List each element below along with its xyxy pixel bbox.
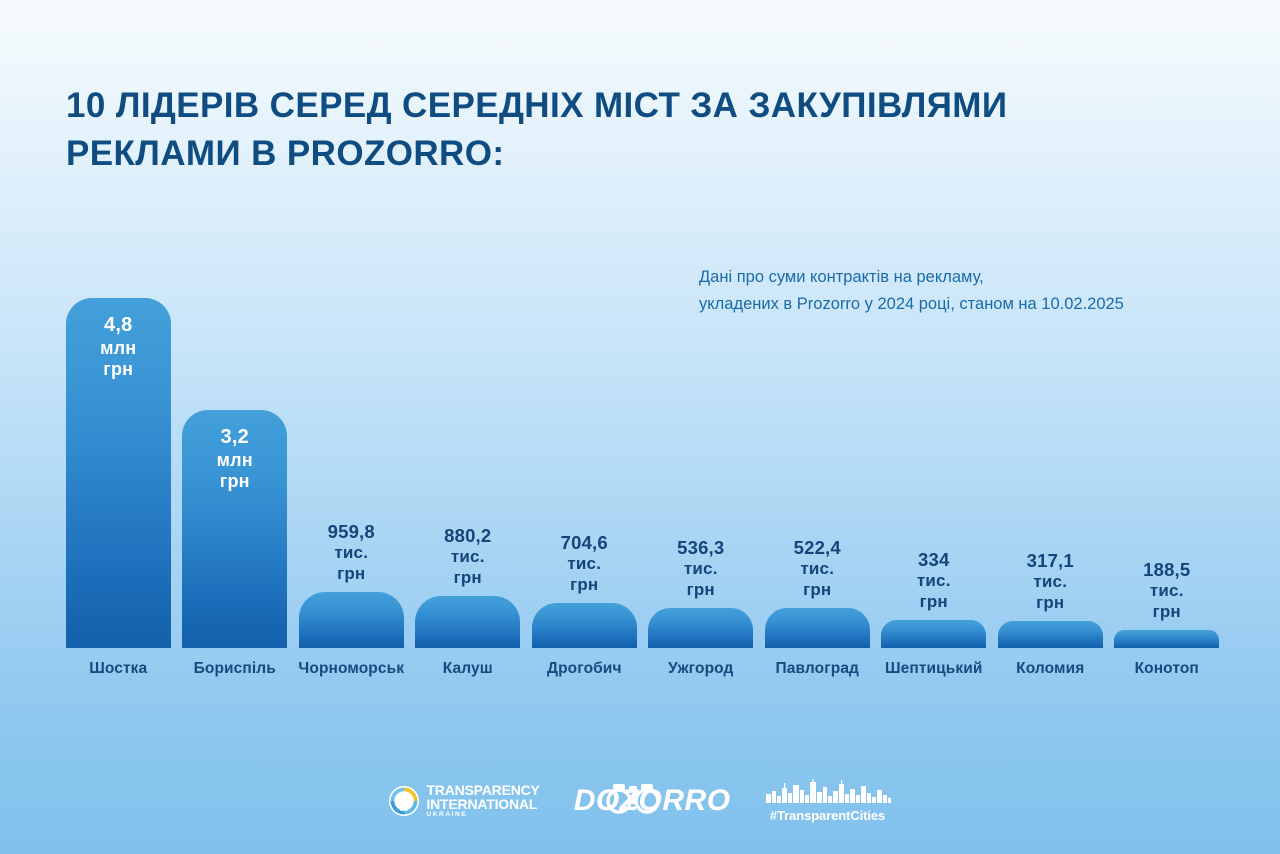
bar-value-unit-1: млн bbox=[182, 450, 287, 471]
bar[interactable] bbox=[299, 592, 404, 648]
bar-value-number: 880,2 bbox=[444, 525, 491, 546]
bar-column: 704,6тис.грн bbox=[526, 240, 643, 648]
category-label-6: Ужгород bbox=[643, 660, 760, 678]
category-label-10: Конотоп bbox=[1109, 660, 1226, 678]
binoculars-icon bbox=[605, 782, 661, 821]
bar[interactable]: 3,2млнгрн bbox=[182, 410, 287, 648]
bar[interactable] bbox=[881, 620, 986, 648]
bar-chart-category-axis: ШосткаБориспільЧорноморськКалушДрогобичУ… bbox=[60, 648, 1225, 690]
bar-value-label: 704,6тис.грн bbox=[561, 532, 608, 595]
category-label-5: Дрогобич bbox=[526, 660, 643, 678]
bar[interactable] bbox=[998, 621, 1103, 648]
bar-chart: 4,8млнгрн3,2млнгрн959,8тис.грн880,2тис.г… bbox=[60, 240, 1225, 690]
bar-column: 880,2тис.грн bbox=[410, 240, 527, 648]
bar-value-unit-1: тис. bbox=[677, 559, 724, 579]
bar-value-unit-2: грн bbox=[677, 580, 724, 600]
bar-value-label: 536,3тис.грн bbox=[677, 537, 724, 600]
bar-value-number: 959,8 bbox=[328, 521, 375, 542]
logo-dozorro: DOZORRO bbox=[574, 784, 731, 818]
bar-value-unit-2: грн bbox=[1143, 602, 1190, 622]
bar[interactable] bbox=[415, 596, 520, 648]
bar-value-number: 522,4 bbox=[794, 537, 841, 558]
bar-value-unit-2: грн bbox=[444, 568, 491, 588]
bar-value-label: 317,1тис.грн bbox=[1027, 550, 1074, 613]
bar-value-label: 188,5тис.грн bbox=[1143, 559, 1190, 622]
category-label-8: Шептицький bbox=[876, 660, 993, 678]
bar-value-unit-2: грн bbox=[794, 580, 841, 600]
page-title-line-1: 10 ЛІДЕРІВ СЕРЕД СЕРЕДНІХ МІСТ ЗА ЗАКУПІ… bbox=[66, 82, 1126, 130]
page-title: 10 ЛІДЕРІВ СЕРЕД СЕРЕДНІХ МІСТ ЗА ЗАКУПІ… bbox=[66, 82, 1126, 179]
category-label-4: Калуш bbox=[410, 660, 527, 678]
bar[interactable] bbox=[648, 608, 753, 648]
bar-value-number: 3,2 bbox=[221, 426, 249, 448]
bar-value-number: 536,3 bbox=[677, 537, 724, 558]
bar[interactable] bbox=[532, 603, 637, 648]
bar[interactable] bbox=[765, 608, 870, 648]
ti-line-1: TRANSPARENCY bbox=[426, 783, 539, 797]
ti-line-3: UKRAINE bbox=[426, 812, 539, 819]
bar-value-unit-2: грн bbox=[328, 564, 375, 584]
bar-column: 959,8тис.грн bbox=[293, 240, 410, 648]
bar-column: 536,3тис.грн bbox=[643, 240, 760, 648]
bar-value-label: 4,8млнгрн bbox=[66, 314, 171, 380]
ti-line-2: INTERNATIONAL bbox=[426, 797, 539, 811]
bar-value-number: 317,1 bbox=[1027, 550, 1074, 571]
bar-value-unit-2: грн bbox=[1027, 593, 1074, 613]
bar-column: 3,2млнгрн bbox=[177, 240, 294, 648]
bar-value-unit-2: грн bbox=[561, 575, 608, 595]
bar-value-number: 4,8 bbox=[104, 314, 132, 336]
bar-value-unit-1: тис. bbox=[561, 554, 608, 574]
city-skyline-icon bbox=[765, 779, 891, 808]
bar-value-unit-2: грн bbox=[917, 592, 951, 612]
bar-value-label: 334тис.грн bbox=[917, 549, 951, 612]
bar-value-unit-1: тис. bbox=[794, 559, 841, 579]
bar-value-label: 3,2млнгрн bbox=[182, 426, 287, 492]
logo-transparency-international-ukraine: TRANSPARENCY INTERNATIONAL UKRAINE bbox=[389, 783, 539, 819]
page-title-line-2: РЕКЛАМИ В PROZORRO: bbox=[66, 130, 1126, 178]
bar-value-number: 334 bbox=[918, 549, 949, 570]
bar-column: 4,8млнгрн bbox=[60, 240, 177, 648]
bar-value-unit-1: тис. bbox=[328, 543, 375, 563]
bar-column: 317,1тис.грн bbox=[992, 240, 1109, 648]
bar-column: 522,4тис.грн bbox=[759, 240, 876, 648]
bar-column: 334тис.грн bbox=[876, 240, 993, 648]
bar-value-label: 959,8тис.грн bbox=[328, 521, 375, 584]
bar[interactable]: 4,8млнгрн bbox=[66, 298, 171, 648]
bar-value-unit-1: тис. bbox=[917, 571, 951, 591]
bar-chart-plot-area: 4,8млнгрн3,2млнгрн959,8тис.грн880,2тис.г… bbox=[60, 240, 1225, 648]
bar-value-unit-1: млн bbox=[66, 338, 171, 359]
bar-value-unit-2: грн bbox=[66, 359, 171, 380]
bar-value-unit-1: тис. bbox=[1143, 581, 1190, 601]
bar-value-number: 188,5 bbox=[1143, 559, 1190, 580]
transparency-international-globe-icon bbox=[389, 786, 419, 816]
category-label-9: Коломия bbox=[992, 660, 1109, 678]
footer-logos: TRANSPARENCY INTERNATIONAL UKRAINE DOZOR… bbox=[0, 779, 1280, 822]
category-label-3: Чорноморськ bbox=[293, 660, 410, 678]
category-label-1: Шостка bbox=[60, 660, 177, 678]
bar-value-number: 704,6 bbox=[561, 532, 608, 553]
bar-value-unit-2: грн bbox=[182, 471, 287, 492]
bar-value-label: 880,2тис.грн bbox=[444, 525, 491, 588]
logo-transparent-cities: #TransparentCities bbox=[765, 779, 891, 822]
transparency-international-wordmark: TRANSPARENCY INTERNATIONAL UKRAINE bbox=[426, 783, 539, 819]
category-label-7: Павлоград bbox=[759, 660, 876, 678]
bar-value-label: 522,4тис.грн bbox=[794, 537, 841, 600]
bar-value-unit-1: тис. bbox=[1027, 572, 1074, 592]
bar[interactable] bbox=[1114, 630, 1219, 648]
bar-value-unit-1: тис. bbox=[444, 547, 491, 567]
transparent-cities-wordmark: #TransparentCities bbox=[770, 809, 885, 822]
bar-column: 188,5тис.грн bbox=[1109, 240, 1226, 648]
category-label-2: Бориспіль bbox=[177, 660, 294, 678]
